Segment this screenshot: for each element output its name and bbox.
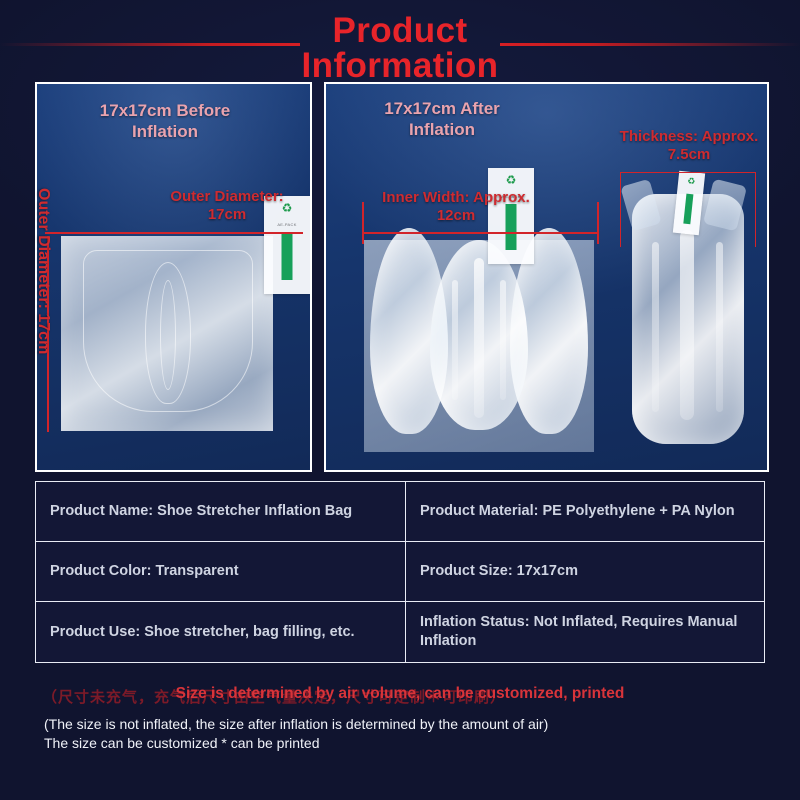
spec-cell-product-size: Product Size: 17x17cm bbox=[406, 542, 764, 602]
infographic-canvas: Product Information ♻ AE-PACK 17x17cm Be… bbox=[0, 0, 800, 800]
spec-cell-product-color: Product Color: Transparent bbox=[36, 542, 406, 602]
inner-width-line bbox=[362, 232, 598, 234]
page-title: Product Information bbox=[0, 12, 800, 84]
footnote-english-line2: The size can be customized * can be prin… bbox=[44, 734, 764, 753]
footnote-translation-overlay: Size is determined by air volume, can be… bbox=[42, 685, 758, 703]
spec-cell-product-name: Product Name: Shoe Stretcher Inflation B… bbox=[36, 482, 406, 542]
outer-diameter-label: Outer Diameter: 17cm bbox=[157, 188, 297, 224]
spec-table: Product Name: Shoe Stretcher Inflation B… bbox=[35, 481, 765, 663]
inner-width-tick-left bbox=[362, 202, 364, 244]
tag-green-bar bbox=[282, 232, 293, 280]
thickness-bracket bbox=[620, 172, 756, 247]
side-bag-rib-left bbox=[652, 242, 659, 412]
panel-before-title: 17x17cm Before Inflation bbox=[75, 100, 255, 142]
page-title-line1: Product bbox=[332, 11, 467, 50]
spec-cell-product-use: Product Use: Shoe stretcher, bag filling… bbox=[36, 602, 406, 662]
outer-diameter-line bbox=[45, 232, 303, 234]
inflated-bag-photo bbox=[364, 222, 594, 452]
footnote-english: (The size is not inflated, the size afte… bbox=[44, 715, 764, 753]
inner-width-label: Inner Width: Approx. 12cm bbox=[376, 189, 536, 225]
footnote-english-line1: (The size is not inflated, the size afte… bbox=[44, 716, 548, 732]
spec-cell-inflation-status: Inflation Status: Not Inflated, Requires… bbox=[406, 602, 764, 662]
side-bag-rib-center bbox=[680, 230, 694, 420]
bag-center-rib bbox=[474, 258, 484, 418]
page-title-line2: Information bbox=[0, 47, 800, 84]
inner-width-tick-right bbox=[597, 202, 599, 244]
recycle-icon-2: ♻ bbox=[506, 174, 517, 186]
panel-before-inflation: ♻ AE-PACK 17x17cm Before Inflation Outer… bbox=[35, 82, 312, 472]
bag-center-rib-2 bbox=[452, 280, 458, 400]
panel-after-inflation: ♻ AE-PACK ♻ 17x17cm After Inflation Inne… bbox=[324, 82, 769, 472]
bag-center-rib-3 bbox=[500, 280, 506, 400]
flat-bag-photo bbox=[61, 236, 273, 431]
outer-diameter-vertical-label: Outer Diameter: 17cm bbox=[34, 188, 52, 354]
panel-after-title: 17x17cm After Inflation bbox=[352, 98, 532, 140]
spec-cell-product-material: Product Material: PE Polyethylene + PA N… bbox=[406, 482, 764, 542]
bag-seam-center-inner bbox=[160, 280, 176, 390]
thickness-label: Thickness: Approx. 7.5cm bbox=[614, 128, 764, 164]
side-bag-rib-right bbox=[716, 242, 723, 412]
